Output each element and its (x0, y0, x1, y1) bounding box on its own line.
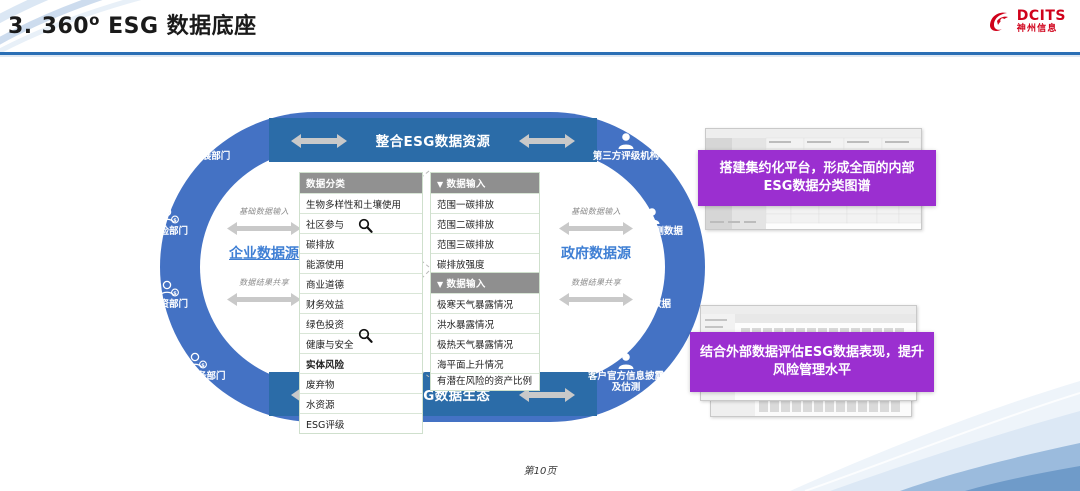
page-title: 3.360o ESG 数据底座 (8, 8, 257, 40)
node-third-party-rating-agency: 第三方评级机构 (586, 132, 666, 163)
node-public-affairs-dept: $ 公共事务部门 (157, 352, 237, 383)
table-header-label: 数据输入 (446, 179, 485, 190)
svg-text:$: $ (173, 291, 177, 297)
double-arrow-icon (559, 220, 633, 233)
caret-down-icon: ▼ (437, 180, 443, 189)
page-title-number: 3. (8, 14, 33, 39)
table-row[interactable]: 碳排放 (300, 233, 422, 253)
logo-en-text: DCITS (1017, 9, 1066, 23)
double-arrow-icon (227, 291, 301, 304)
logo-wordmark: DCITS 神州信息 (1017, 9, 1066, 34)
callout-text: 结合外部数据评估ESG数据表现，提升风险管理水平 (698, 344, 926, 379)
person-outline-icon: $ (158, 207, 180, 225)
node-sustainability-dept: $ 可持续发展部门 (157, 132, 237, 163)
svg-text:$: $ (173, 218, 177, 224)
table-header: 数据分类 (300, 173, 422, 193)
page-title-main: 360 (42, 14, 89, 39)
page-title-rest: ESG 数据底座 (100, 14, 257, 39)
double-arrow-icon (227, 220, 301, 233)
band-integrate-esg-resources: 整合ESG数据资源 (269, 118, 597, 162)
caption-basic-data-input: 基础数据输入 (542, 206, 650, 217)
magnifier-icon[interactable] (358, 328, 373, 343)
person-outline-icon: $ (158, 280, 180, 298)
person-outline-icon: $ (186, 132, 208, 150)
double-arrow-icon (291, 133, 347, 147)
table-row[interactable]: 海平面上升情况 (431, 353, 539, 373)
callout-banner: 结合外部数据评估ESG数据表现，提升风险管理水平 (690, 332, 934, 392)
header-rule-soft (0, 55, 1080, 57)
esg-data-platform-diagram: 整合ESG数据资源 形成ESG数据生态 (160, 112, 705, 422)
table-row[interactable]: 范围二碳排放 (431, 213, 539, 233)
callout-banner: 搭建集约化平台，形成全面的内部ESG数据分类图谱 (698, 150, 936, 206)
table-row[interactable]: 水资源 (300, 393, 422, 413)
table-row[interactable]: 极寒天气暴露情况 (431, 293, 539, 313)
double-arrow-icon (519, 133, 575, 147)
node-label: 第三方评级机构 (593, 151, 660, 162)
data-category-table[interactable]: 数据分类 生物多样性和土壤使用 社区参与 碳排放 能源使用 商业道德 财务效益 … (299, 172, 423, 434)
magnifier-icon[interactable] (358, 218, 373, 233)
government-data-source-block: 基础数据输入 政府数据源 数据结果共享 (542, 206, 650, 304)
node-client-official-disclosure: 客户官方信息披露及估测 (586, 352, 666, 394)
table-header-label: 数据输入 (446, 279, 485, 290)
band-top-label: 整合ESG数据资源 (376, 130, 491, 150)
node-label: 风险部门 (150, 226, 188, 237)
government-data-source-title: 政府数据源 (542, 243, 650, 263)
caret-down-icon: ▼ (437, 280, 443, 289)
callout-text: 搭建集约化平台，形成全面的内部ESG数据分类图谱 (706, 160, 928, 195)
data-input-table-physical-risk[interactable]: ▼数据输入 极寒天气暴露情况 洪水暴露情况 极热天气暴露情况 海平面上升情况 有… (430, 272, 540, 391)
page-number: 第10页 (0, 462, 1080, 477)
person-filled-icon (615, 132, 637, 150)
caption-data-result-sharing: 数据结果共享 (542, 277, 650, 288)
callout-internal-esg-catalog: 搭建集约化平台，形成全面的内部ESG数据分类图谱 (705, 128, 920, 228)
table-row[interactable]: 碳排放强度 (431, 253, 539, 273)
table-row[interactable]: ESG评级 (300, 413, 422, 433)
svg-text:$: $ (201, 363, 205, 369)
degree-symbol: o (89, 11, 100, 29)
table-row[interactable]: 财务效益 (300, 293, 422, 313)
brand-logo: DCITS 神州信息 (986, 8, 1066, 34)
table-row[interactable]: 范围三碳排放 (431, 233, 539, 253)
table-row[interactable]: 范围一碳排放 (431, 193, 539, 213)
node-label: 投资部门 (150, 299, 188, 310)
table-row[interactable]: 商业道德 (300, 273, 422, 293)
slide-canvas: 3.360o ESG 数据底座 DCITS 神州信息 (0, 0, 1080, 491)
person-outline-icon: $ (186, 352, 208, 370)
slide-header: 3.360o ESG 数据底座 DCITS 神州信息 (0, 0, 1080, 52)
table-header[interactable]: ▼数据输入 (431, 273, 539, 293)
table-row[interactable]: 生物多样性和土壤使用 (300, 193, 422, 213)
dcits-mark-icon (986, 8, 1012, 34)
node-investment-dept: $ 投资部门 (129, 280, 209, 311)
node-label: 客户官方信息披露及估测 (588, 371, 664, 393)
double-arrow-icon (559, 291, 633, 304)
logo-cn-text: 神州信息 (1017, 25, 1066, 34)
callout-external-data-risk-management: 结合外部数据评估ESG数据表现，提升风险管理水平 (700, 305, 930, 420)
table-row[interactable]: 废弃物 (300, 373, 422, 393)
table-row[interactable]: 洪水暴露情况 (431, 313, 539, 333)
table-row[interactable]: 有潜在风险的资产比例 (431, 373, 539, 390)
table-row[interactable]: 能源使用 (300, 253, 422, 273)
table-row[interactable]: 极热天气暴露情况 (431, 333, 539, 353)
node-label: 公共事务部门 (168, 371, 225, 382)
table-row[interactable]: 实体风险 (300, 353, 422, 373)
person-filled-icon (615, 352, 637, 370)
node-label: 可持续发展部门 (164, 151, 231, 162)
svg-text:$: $ (201, 143, 205, 149)
node-risk-dept: $ 风险部门 (129, 207, 209, 238)
table-header[interactable]: ▼数据输入 (431, 173, 539, 193)
